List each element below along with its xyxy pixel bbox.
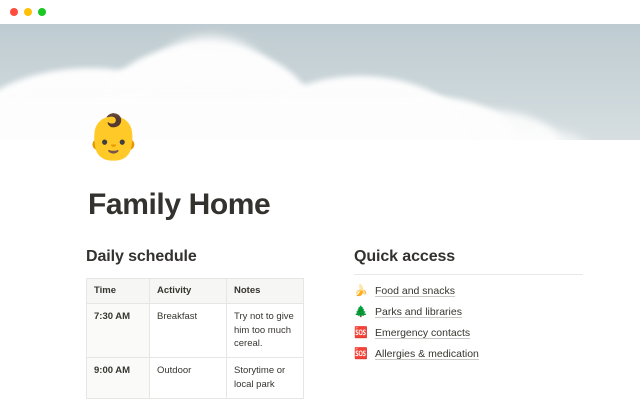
- column-header-notes[interactable]: Notes: [227, 279, 304, 304]
- cell-activity[interactable]: Breakfast: [150, 303, 227, 357]
- maximize-window-button[interactable]: [38, 8, 46, 16]
- traffic-light-group: [10, 8, 46, 16]
- list-item[interactable]: 🌲 Parks and libraries: [354, 305, 586, 319]
- sos-emoji-icon: 🆘: [354, 347, 368, 361]
- first-aid-emoji-icon: 🆘: [354, 326, 368, 340]
- table-row[interactable]: 7:30 AM Breakfast Try not to give him to…: [87, 303, 304, 357]
- quick-access-list: 🍌 Food and snacks 🌲 Parks and libraries …: [354, 284, 586, 361]
- table-header-row: Time Activity Notes: [87, 279, 304, 304]
- page-title[interactable]: Family Home: [88, 188, 270, 222]
- content-columns: Daily schedule Time Activity Notes: [0, 248, 640, 399]
- quick-access-link-food-and-snacks[interactable]: Food and snacks: [375, 285, 455, 297]
- cell-notes[interactable]: Storytime or local park: [227, 358, 304, 399]
- column-header-activity[interactable]: Activity: [150, 279, 227, 304]
- cell-time[interactable]: 7:30 AM: [87, 303, 150, 357]
- daily-schedule-column: Daily schedule Time Activity Notes: [86, 248, 331, 399]
- cloud-bank: [0, 98, 470, 140]
- quick-access-divider: [354, 274, 583, 275]
- quick-access-link-emergency-contacts[interactable]: Emergency contacts: [375, 327, 470, 339]
- daily-schedule-heading: Daily schedule: [86, 248, 331, 266]
- page-content: 👶 Family Home Daily schedule Time Activi…: [0, 140, 640, 400]
- cell-notes[interactable]: Try not to give him too much cereal.: [227, 303, 304, 357]
- window-title-bar: [0, 0, 640, 24]
- daily-schedule-table[interactable]: Time Activity Notes 7:30 AM Breakfast Tr…: [86, 278, 304, 399]
- list-item[interactable]: 🆘 Emergency contacts: [354, 326, 586, 340]
- quick-access-column: Quick access 🍌 Food and snacks 🌲 Parks a…: [354, 248, 586, 399]
- cell-activity[interactable]: Outdoor: [150, 358, 227, 399]
- evergreen-tree-emoji-icon: 🌲: [354, 305, 368, 319]
- list-item[interactable]: 🆘 Allergies & medication: [354, 347, 586, 361]
- minimize-window-button[interactable]: [24, 8, 32, 16]
- baby-emoji-icon[interactable]: 👶: [86, 114, 136, 164]
- banana-emoji-icon: 🍌: [354, 284, 368, 298]
- quick-access-link-allergies-and-medication[interactable]: Allergies & medication: [375, 348, 479, 360]
- quick-access-link-parks-and-libraries[interactable]: Parks and libraries: [375, 306, 462, 318]
- close-window-button[interactable]: [10, 8, 18, 16]
- cell-time[interactable]: 9:00 AM: [87, 358, 150, 399]
- list-item[interactable]: 🍌 Food and snacks: [354, 284, 586, 298]
- quick-access-heading: Quick access: [354, 248, 586, 266]
- column-header-time[interactable]: Time: [87, 279, 150, 304]
- table-row[interactable]: 9:00 AM Outdoor Storytime or local park: [87, 358, 304, 399]
